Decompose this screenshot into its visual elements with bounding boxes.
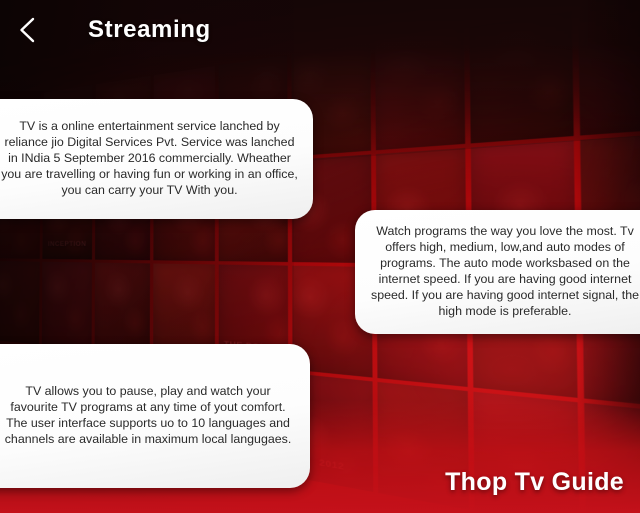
back-button[interactable] [0, 0, 54, 60]
info-card-quality-text: Watch programs the way you love the most… [369, 224, 640, 319]
info-card-overview: TV is a online entertainment service lan… [0, 99, 313, 219]
info-card-features-text: TV allows you to pause, play and watch y… [0, 384, 296, 448]
streaming-screen: INCEPTIONTHE POLICECRASH2012 Streaming T… [0, 0, 640, 513]
info-card-features: TV allows you to pause, play and watch y… [0, 344, 310, 488]
info-card-quality: Watch programs the way you love the most… [355, 210, 640, 334]
chevron-left-icon [16, 16, 38, 44]
app-watermark: Thop Tv Guide [445, 468, 624, 497]
app-header: Streaming [0, 0, 640, 60]
page-title: Streaming [88, 16, 211, 44]
info-card-overview-text: TV is a online entertainment service lan… [0, 119, 299, 198]
